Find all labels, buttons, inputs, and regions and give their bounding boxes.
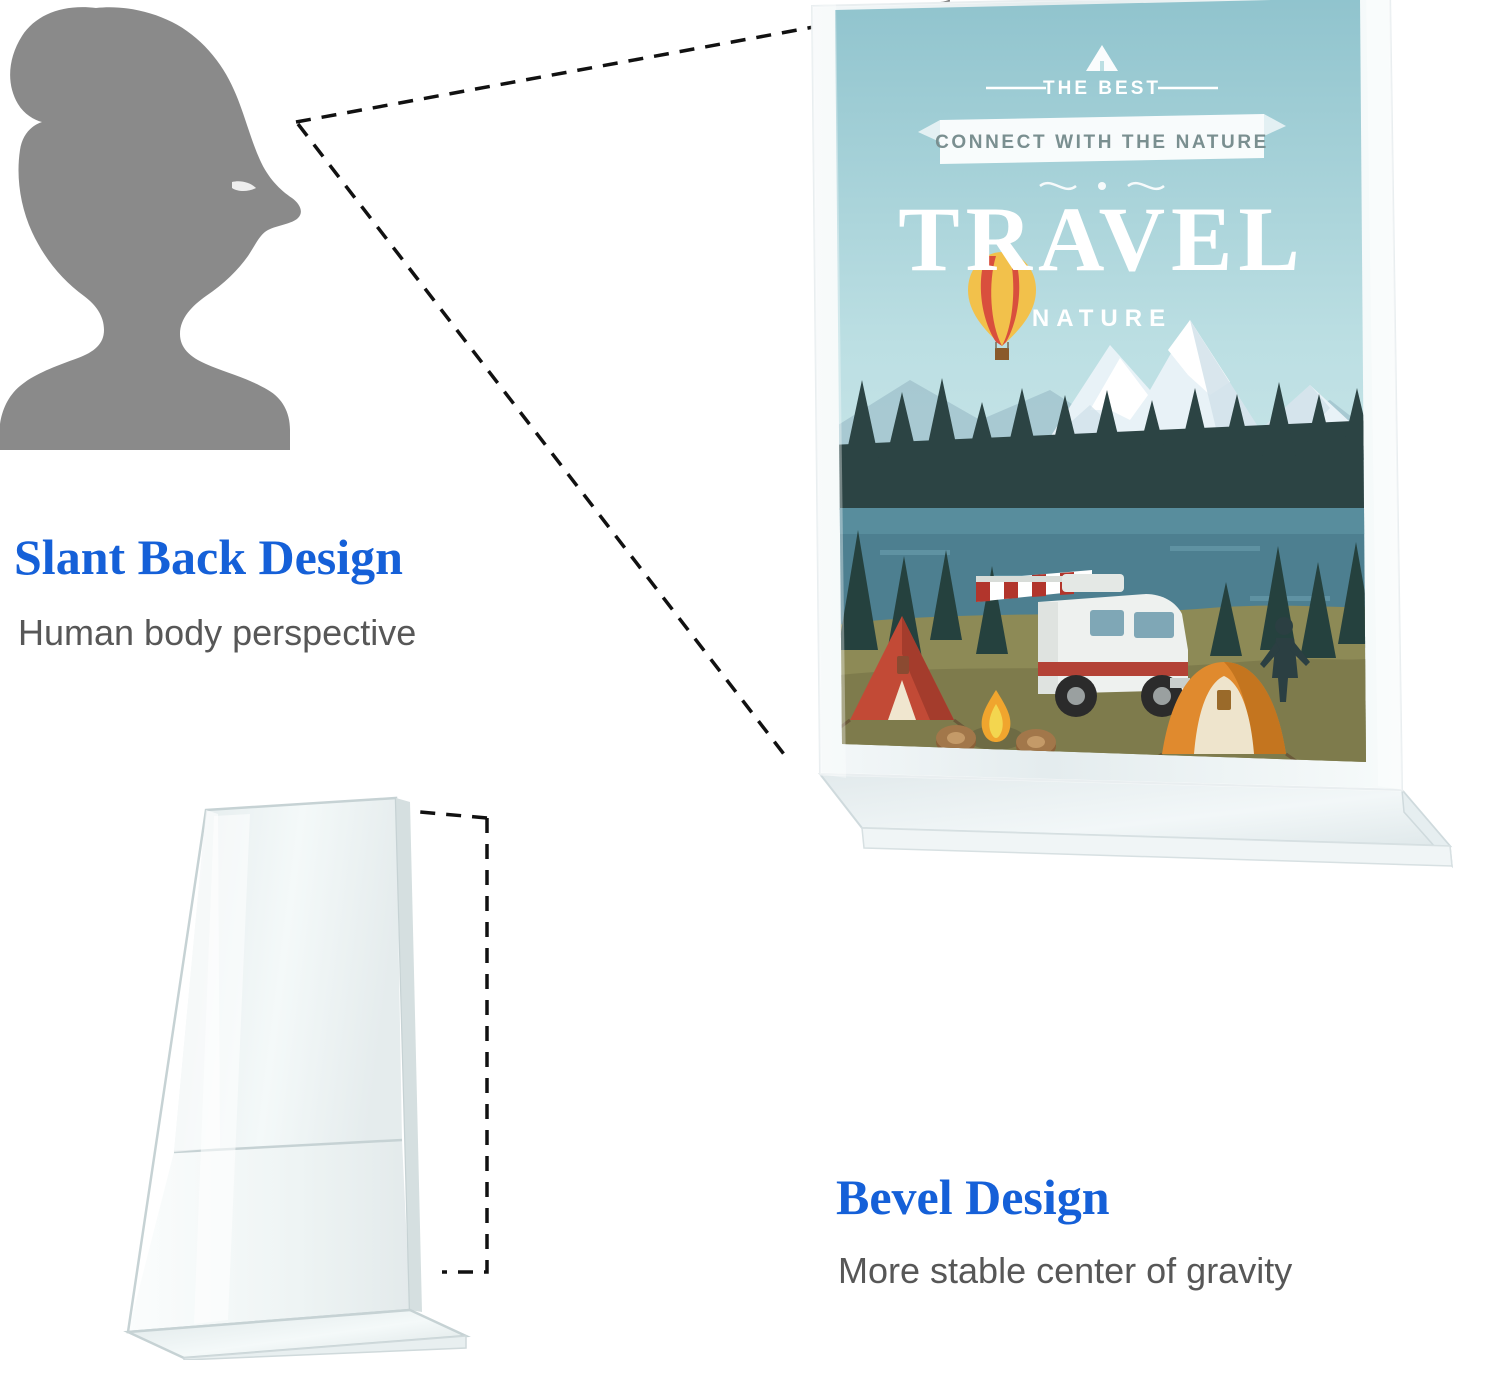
acrylic-slant-back-sign-holder-with-poster: THE BEST CONNECT WITH THE NATURE TR bbox=[790, 0, 1490, 890]
human-head-profile-silhouette-icon bbox=[0, 0, 320, 450]
travel-nature-camping-poster: THE BEST CONNECT WITH THE NATURE TR bbox=[830, 0, 1375, 780]
svg-text:TRAVEL: TRAVEL bbox=[898, 188, 1306, 290]
bevel-design-title: Bevel Design bbox=[836, 1168, 1110, 1226]
illustration-stage: THE BEST CONNECT WITH THE NATURE TR bbox=[0, 0, 1500, 1392]
slant-back-design-subtitle: Human body perspective bbox=[18, 612, 416, 654]
acrylic-slant-back-sign-holder-empty bbox=[110, 780, 530, 1360]
svg-text:NATURE: NATURE bbox=[1032, 305, 1172, 332]
svg-text:THE BEST: THE BEST bbox=[1043, 78, 1161, 99]
svg-text:CONNECT WITH THE NATURE: CONNECT WITH THE NATURE bbox=[935, 132, 1269, 153]
bevel-design-subtitle: More stable center of gravity bbox=[838, 1250, 1292, 1292]
slant-back-design-title: Slant Back Design bbox=[14, 528, 403, 586]
